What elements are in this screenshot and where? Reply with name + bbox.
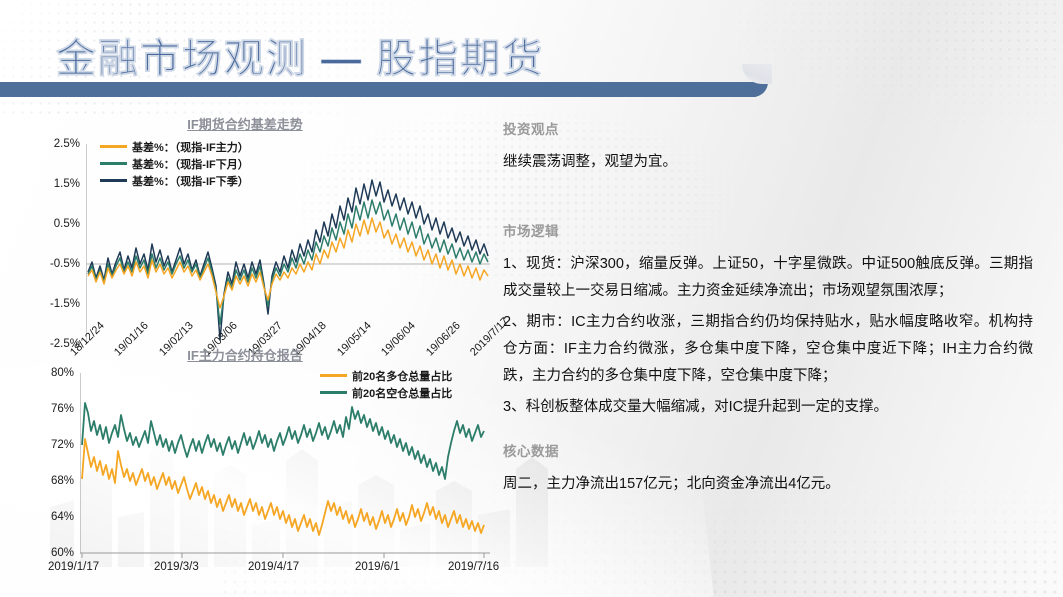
chart-plot-if-basis-trend — [86, 144, 490, 344]
x-axis-tick: 2019/7/16 — [448, 561, 499, 573]
chart-title-if-position-report: IF主力合约持仓报告 — [130, 345, 360, 364]
market-logic-paragraph-2: 2、期市：IC主力合约收涨，三期指合约仍均保持贴水，贴水幅度略收窄。机构持仓方面… — [503, 309, 1033, 390]
section-heading-market-logic: 市场逻辑 — [503, 220, 1033, 240]
section-heading-core-data: 核心数据 — [503, 440, 1033, 460]
section-body-core-data: 周二，主力净流出157亿元；北向资金净流出4亿元。 — [503, 471, 1033, 498]
x-axis-tick: 2019/1/17 — [48, 561, 99, 573]
header-accent-bar-tip — [742, 82, 768, 97]
section-body-investment-view: 继续震荡调整，观望为宜。 — [503, 149, 1033, 176]
section-core-data: 核心数据 周二，主力净流出157亿元；北向资金净流出4亿元。 — [503, 440, 1033, 498]
section-market-logic: 市场逻辑 1、现货：沪深300，缩量反弹。上证50，十字星微跌。中证500触底反… — [503, 220, 1033, 421]
y-axis-tick: 64% — [30, 511, 74, 523]
header-accent-bar — [0, 82, 756, 97]
market-logic-paragraph-1: 1、现货：沪深300，缩量反弹。上证50，十字星微跌。中证500触底反弹。三期指… — [503, 251, 1033, 305]
spacer — [503, 425, 1033, 440]
y-axis-tick: 76% — [30, 403, 74, 415]
commentary-panel: 投资观点 继续震荡调整，观望为宜。 市场逻辑 1、现货：沪深300，缩量反弹。上… — [503, 118, 1033, 498]
header-accent-bar-notch — [742, 64, 772, 84]
section-investment-view: 投资观点 继续震荡调整，观望为宜。 — [503, 118, 1033, 176]
x-axis-tick: 2019/4/17 — [248, 561, 299, 573]
charts-column: IF期货合约基差走势 基差%：（现指-IF主力） 基差%：（现指-IF下月） 基… — [30, 112, 490, 582]
spacer — [503, 176, 1033, 220]
slide-page: 金融市场观测 — 股指期货 IF期货合约基差走势 基差%：（现指-IF主力） 基… — [0, 0, 1063, 597]
chart-title-if-basis-trend: IF期货合约基差走势 — [130, 114, 360, 133]
y-axis-tick: 68% — [30, 475, 74, 487]
market-logic-paragraph-3: 3、科创板整体成交量大幅缩减，对IC提升起到一定的支撑。 — [503, 394, 1033, 421]
page-title: 金融市场观测 — 股指期货 — [56, 26, 544, 84]
y-axis-tick: 1.5% — [30, 178, 80, 190]
x-axis-tick: 2019/3/3 — [154, 561, 199, 573]
y-axis-tick: -0.5% — [30, 258, 80, 270]
slide-header: 金融市场观测 — 股指期货 — [0, 0, 1063, 100]
section-heading-investment-view: 投资观点 — [503, 118, 1033, 138]
y-axis-tick: 2.5% — [30, 138, 80, 150]
y-axis-tick: 80% — [30, 367, 74, 379]
x-axis-tick: 2019/6/1 — [355, 561, 400, 573]
chart-plot-if-position-report — [80, 373, 490, 559]
y-axis-tick: 72% — [30, 439, 74, 451]
y-axis-tick: -1.5% — [30, 298, 80, 310]
y-axis-tick: 0.5% — [30, 218, 80, 230]
y-axis-tick: 60% — [30, 547, 74, 559]
